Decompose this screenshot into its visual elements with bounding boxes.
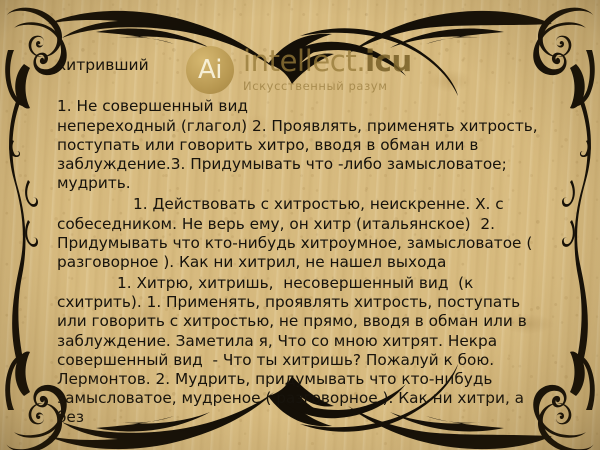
definition-entry-1: 1. Не совершенный вид непереходный (глаг… [57, 97, 549, 193]
definition-entry-3: 1. Хитрю, хитришь, несовершенный вид (к … [57, 274, 549, 428]
scanned-page: Ai intellect.icu Искусственный разум хит… [0, 0, 600, 450]
definition-entry-2: 1. Действовать с хитростью, неискренне. … [57, 195, 549, 272]
page-title: хитривший [57, 56, 549, 75]
article-content: хитривший 1. Не совершенный вид неперехо… [57, 56, 549, 430]
